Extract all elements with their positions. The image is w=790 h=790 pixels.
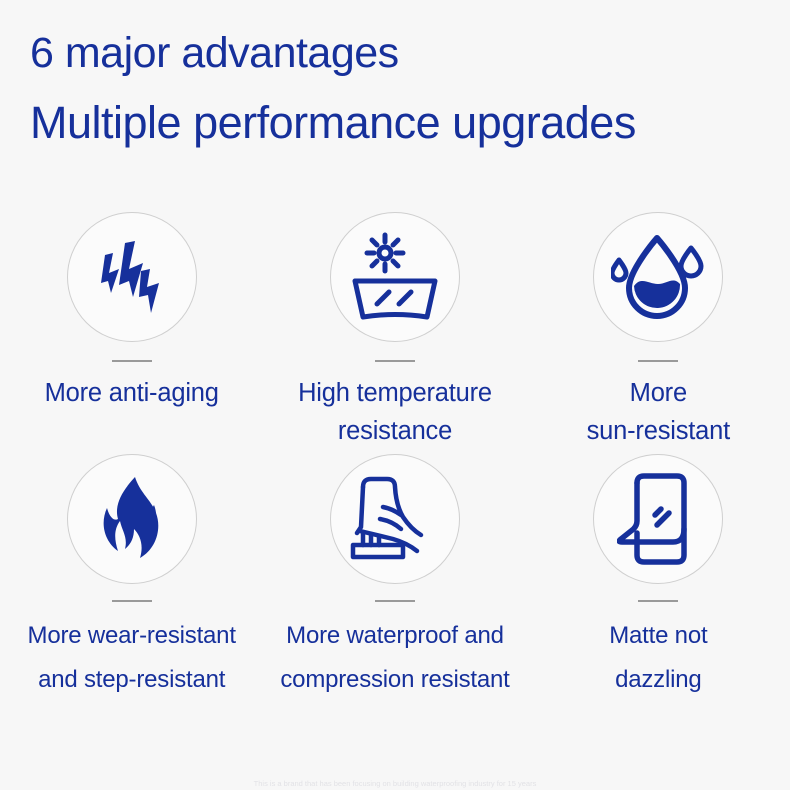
label-divider bbox=[638, 600, 678, 602]
peeling-sheet-icon bbox=[617, 471, 699, 567]
icon-circle bbox=[67, 212, 197, 342]
icon-circle bbox=[330, 454, 460, 584]
icon-circle bbox=[593, 212, 723, 342]
icon-circle bbox=[67, 454, 197, 584]
water-droplet-icon bbox=[611, 230, 705, 324]
advantage-label: More anti-aging bbox=[45, 374, 219, 412]
label-divider bbox=[638, 360, 678, 362]
footer-tagline: This is a brand that has been focusing o… bbox=[0, 778, 790, 790]
advantage-label: High temperature resistance bbox=[298, 374, 492, 450]
foot-stepping-icon bbox=[349, 473, 441, 565]
advantage-item-wear-resistant: More wear-resistant and step-resistant bbox=[0, 454, 263, 702]
advantage-label: More wear-resistant and step-resistant bbox=[28, 614, 236, 702]
advantage-label: Matte not dazzling bbox=[609, 614, 707, 702]
advantage-item-anti-aging: More anti-aging bbox=[0, 212, 263, 450]
advantages-grid: More anti-aging bbox=[0, 212, 790, 702]
top-decorative-strip: · · · · · · bbox=[0, 0, 790, 14]
sun-over-basin-icon bbox=[347, 231, 443, 323]
page-title-line-1: 6 major advantages bbox=[30, 22, 636, 84]
advantage-item-matte: Matte not dazzling bbox=[527, 454, 790, 702]
advantage-label: More sun-resistant bbox=[587, 374, 730, 450]
label-divider bbox=[375, 600, 415, 602]
page-title-line-2: Multiple performance upgrades bbox=[30, 84, 636, 162]
advantage-label: More waterproof and compression resistan… bbox=[280, 614, 509, 702]
page-heading-block: 6 major advantages Multiple performance … bbox=[30, 22, 636, 162]
top-strip-text: · · · · · · bbox=[367, 0, 424, 2]
lightning-bolts-icon bbox=[95, 237, 169, 317]
advantage-item-sun-resistant: More sun-resistant bbox=[527, 212, 790, 450]
label-divider bbox=[112, 360, 152, 362]
icon-circle bbox=[593, 454, 723, 584]
flame-icon bbox=[94, 475, 170, 563]
label-divider bbox=[375, 360, 415, 362]
label-divider bbox=[112, 600, 152, 602]
advantage-item-high-temperature: High temperature resistance bbox=[263, 212, 526, 450]
icon-circle bbox=[330, 212, 460, 342]
footer-tagline-text: This is a brand that has been focusing o… bbox=[254, 778, 537, 790]
advantage-item-waterproof: More waterproof and compression resistan… bbox=[263, 454, 526, 702]
